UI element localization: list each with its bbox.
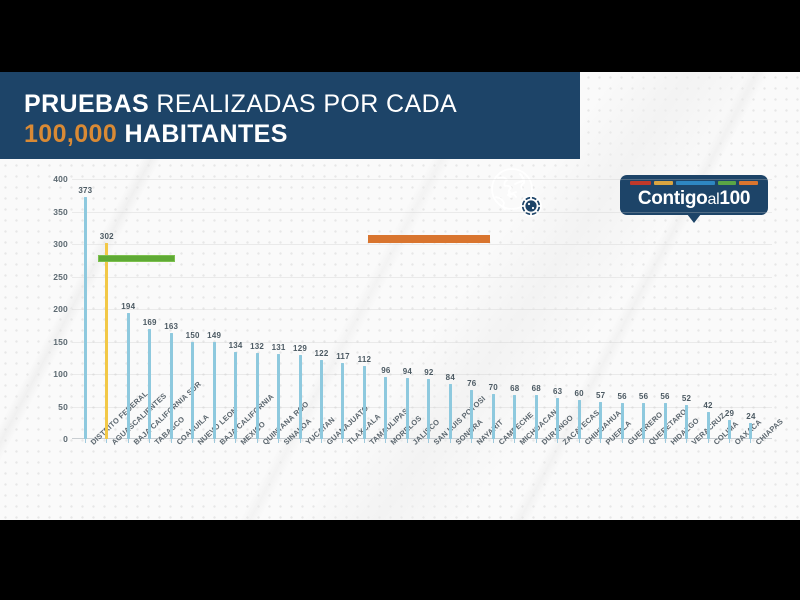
bar-mexico[interactable] [234,352,237,439]
gridline [72,374,772,375]
x-axis-tick [514,439,515,443]
title-word-habitantes: HABITANTES [117,120,288,148]
x-axis-tick [364,439,365,443]
slide: PRUEBAS REALIZADAS POR CADA 100,000 HABI… [0,72,800,520]
bar-value-label: 84 [446,373,455,382]
bar-michoacan[interactable] [513,395,516,439]
x-axis-tick [128,439,129,443]
bar-value-label: 131 [272,343,286,352]
bar-value-label: 42 [703,401,712,410]
x-axis-tick [149,439,150,443]
bar-san-luis-potosi[interactable] [427,379,430,439]
bar-value-label: 63 [553,387,562,396]
x-axis-tick [450,439,451,443]
bar-value-label: 117 [336,352,350,361]
x-axis-tick [214,439,215,443]
bar-guerrero[interactable] [621,403,624,439]
bar-value-label: 112 [358,355,372,364]
bar-value-label: 163 [164,322,178,331]
bar-value-label: 68 [532,384,541,393]
x-axis-tick [106,439,107,443]
bar-value-label: 150 [186,331,200,340]
bar-value-label: 373 [78,186,92,195]
y-axis-tick-label: 250 [22,272,68,282]
x-axis-tick [407,439,408,443]
gridline [72,212,772,213]
bar-hidalgo[interactable] [664,403,667,439]
bar-yucatan[interactable] [299,355,302,439]
x-axis-tick [171,439,172,443]
plot-area: 050100150200250300350400373DISTRITO FEDE… [72,179,772,439]
bar-morelos[interactable] [384,377,387,439]
bar-chiapas[interactable] [749,423,752,439]
x-axis-tick [557,439,558,443]
x-axis-tick [665,439,666,443]
bar-value-label: 56 [660,392,669,401]
title-line-2: 100,000 HABITANTES [24,119,457,149]
bar-value-label: 29 [725,409,734,418]
x-axis-tick [192,439,193,443]
y-axis-tick-label: 50 [22,402,68,412]
x-axis-tick [321,439,322,443]
y-axis-tick-label: 300 [22,239,68,249]
bar-value-label: 60 [575,389,584,398]
bar-aguascalientes[interactable] [105,243,108,439]
x-axis-tick [686,439,687,443]
bar-value-label: 24 [746,412,755,421]
page-title: PRUEBAS REALIZADAS POR CADA 100,000 HABI… [24,89,457,149]
x-axis-tick [257,439,258,443]
x-axis-tick [600,439,601,443]
bar-value-label: 194 [121,302,135,311]
bar-zacatecas[interactable] [556,398,559,439]
header-band: PRUEBAS REALIZADAS POR CADA 100,000 HABI… [0,72,580,159]
bar-veracruz[interactable] [685,405,688,439]
y-axis-tick-label: 350 [22,207,68,217]
bar-guanajuato[interactable] [320,360,323,439]
x-axis-tick [643,439,644,443]
bar-value-label: 68 [510,384,519,393]
x-axis-tick [342,439,343,443]
bar-value-label: 57 [596,391,605,400]
x-axis-tick [385,439,386,443]
bar-value-label: 56 [639,392,648,401]
bar-durango[interactable] [535,395,538,439]
x-axis-tick [708,439,709,443]
x-axis-tick [428,439,429,443]
bar-value-label: 149 [207,331,221,340]
bar-jalisco[interactable] [406,378,409,439]
y-axis-tick-label: 100 [22,369,68,379]
bar-value-label: 169 [143,318,157,327]
x-axis-tick [622,439,623,443]
gridline [72,309,772,310]
gridline [72,244,772,245]
bar-distrito-federal[interactable] [84,197,87,439]
bar-chihuahua[interactable] [578,400,581,439]
x-axis-tick [235,439,236,443]
bar-nuevo-leon[interactable] [191,342,194,440]
bar-quintana-roo[interactable] [256,353,259,439]
x-axis-tick [536,439,537,443]
bar-value-label: 132 [250,342,264,351]
x-axis-tick [85,439,86,443]
gridline [72,179,772,180]
x-axis-tick [579,439,580,443]
bar-sinaloa[interactable] [277,354,280,439]
chart: 050100150200250300350400373DISTRITO FEDE… [0,159,800,520]
x-axis-tick [750,439,751,443]
bar-colima[interactable] [707,412,710,439]
x-axis-tick [278,439,279,443]
title-line-1: PRUEBAS REALIZADAS POR CADA [24,89,457,119]
x-axis-tick [729,439,730,443]
bar-value-label: 134 [229,341,243,350]
bar-value-label: 129 [293,344,307,353]
gridline [72,277,772,278]
bar-value-label: 56 [617,392,626,401]
bar-oaxaca[interactable] [728,420,731,439]
x-axis-tick [471,439,472,443]
bar-value-label: 122 [315,349,329,358]
bar-baja-california-sur[interactable] [127,313,130,439]
highlight-marker-top [98,255,175,262]
bar-coahuila[interactable] [170,333,173,439]
bar-puebla[interactable] [599,402,602,439]
bar-baja-california[interactable] [213,342,216,439]
y-axis-tick-label: 150 [22,337,68,347]
title-number-100000: 100,000 [24,120,117,148]
x-axis-tick [300,439,301,443]
bar-value-label: 70 [489,383,498,392]
bar-value-label: 52 [682,394,691,403]
bar-value-label: 76 [467,379,476,388]
bar-queretaro[interactable] [642,403,645,439]
bar-value-label: 92 [424,368,433,377]
y-axis-tick-label: 400 [22,174,68,184]
y-axis-tick-label: 0 [22,434,68,444]
bar-sonora[interactable] [449,384,452,439]
bar-campeche[interactable] [492,394,495,440]
title-rest-1: REALIZADAS POR CADA [149,90,457,118]
bar-tamaulipas[interactable] [363,366,366,439]
x-axis-tick [493,439,494,443]
title-word-pruebas: PRUEBAS [24,90,149,118]
bar-nayarit[interactable] [470,390,473,439]
bar-value-label: 96 [381,366,390,375]
bar-value-label: 302 [100,232,114,241]
bar-tabasco[interactable] [148,329,151,439]
y-axis-tick-label: 200 [22,304,68,314]
gridline [72,342,772,343]
bar-value-label: 94 [403,367,412,376]
